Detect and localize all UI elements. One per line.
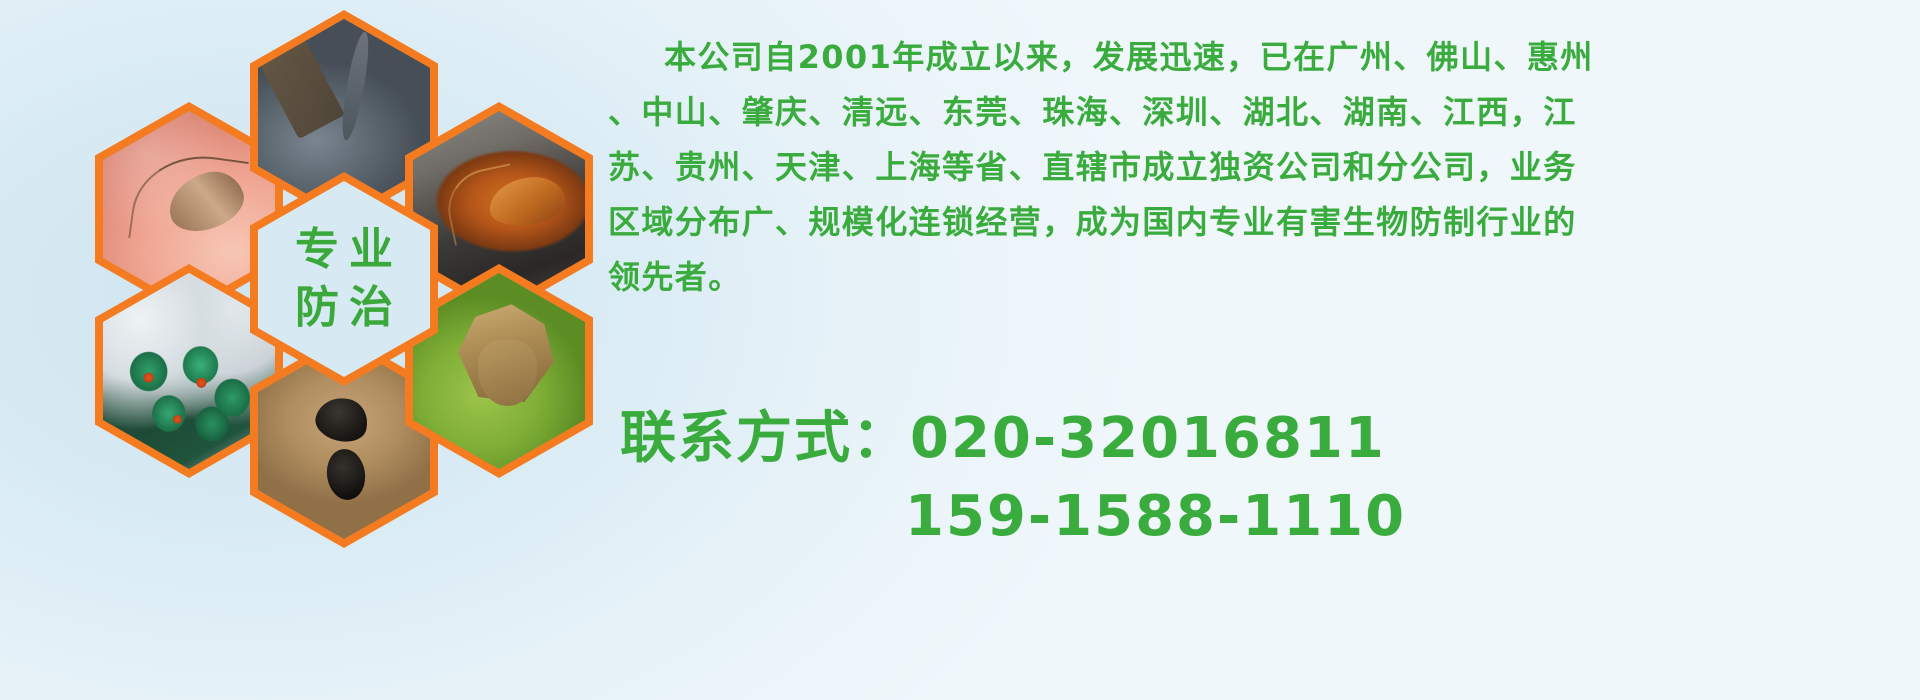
about-line-4: 区域分布广、规模化连锁经营，成为国内专业有害生物防制行业的 [608, 195, 1908, 250]
contact-phone-mobile[interactable]: 159-1588-1110 [620, 478, 1920, 556]
contact-block: 联系方式：020-32016811 159-1588-1110 [620, 400, 1920, 556]
slogan-line-1: 专业 [285, 221, 403, 279]
hex-inner: 专业 防治 [258, 181, 430, 377]
about-paragraph: 本公司自2001年成立以来，发展迅速，已在广州、佛山、惠州 、中山、肇庆、清远、… [608, 30, 1908, 305]
hexagon-photo-cluster: 专业 防治 [75, 0, 595, 562]
contact-phone-landline[interactable]: 联系方式：020-32016811 [620, 400, 1920, 478]
slogan-line-2: 防治 [285, 279, 403, 337]
hex-inner [103, 273, 275, 469]
hex-inner [413, 273, 585, 469]
about-line-3: 苏、贵州、天津、上海等省、直辖市成立独资公司和分公司，业务 [608, 140, 1908, 195]
about-line-2: 、中山、肇庆、清远、东莞、珠海、深圳、湖北、湖南、江西，江 [608, 85, 1908, 140]
stink-bug-icon [413, 273, 585, 469]
banner-root: 专业 防治 本公司自2001年成立以来，发展迅速，已在广州、佛山、惠州 、中山、… [0, 0, 1920, 700]
about-line-5: 领先者。 [608, 250, 1908, 305]
about-line-1: 本公司自2001年成立以来，发展迅速，已在广州、佛山、惠州 [608, 30, 1908, 85]
flies-icon [103, 273, 275, 469]
about-text: 本公司自2001年成立以来，发展迅速，已在广州、佛山、惠州 、中山、肇庆、清远、… [608, 30, 1908, 305]
